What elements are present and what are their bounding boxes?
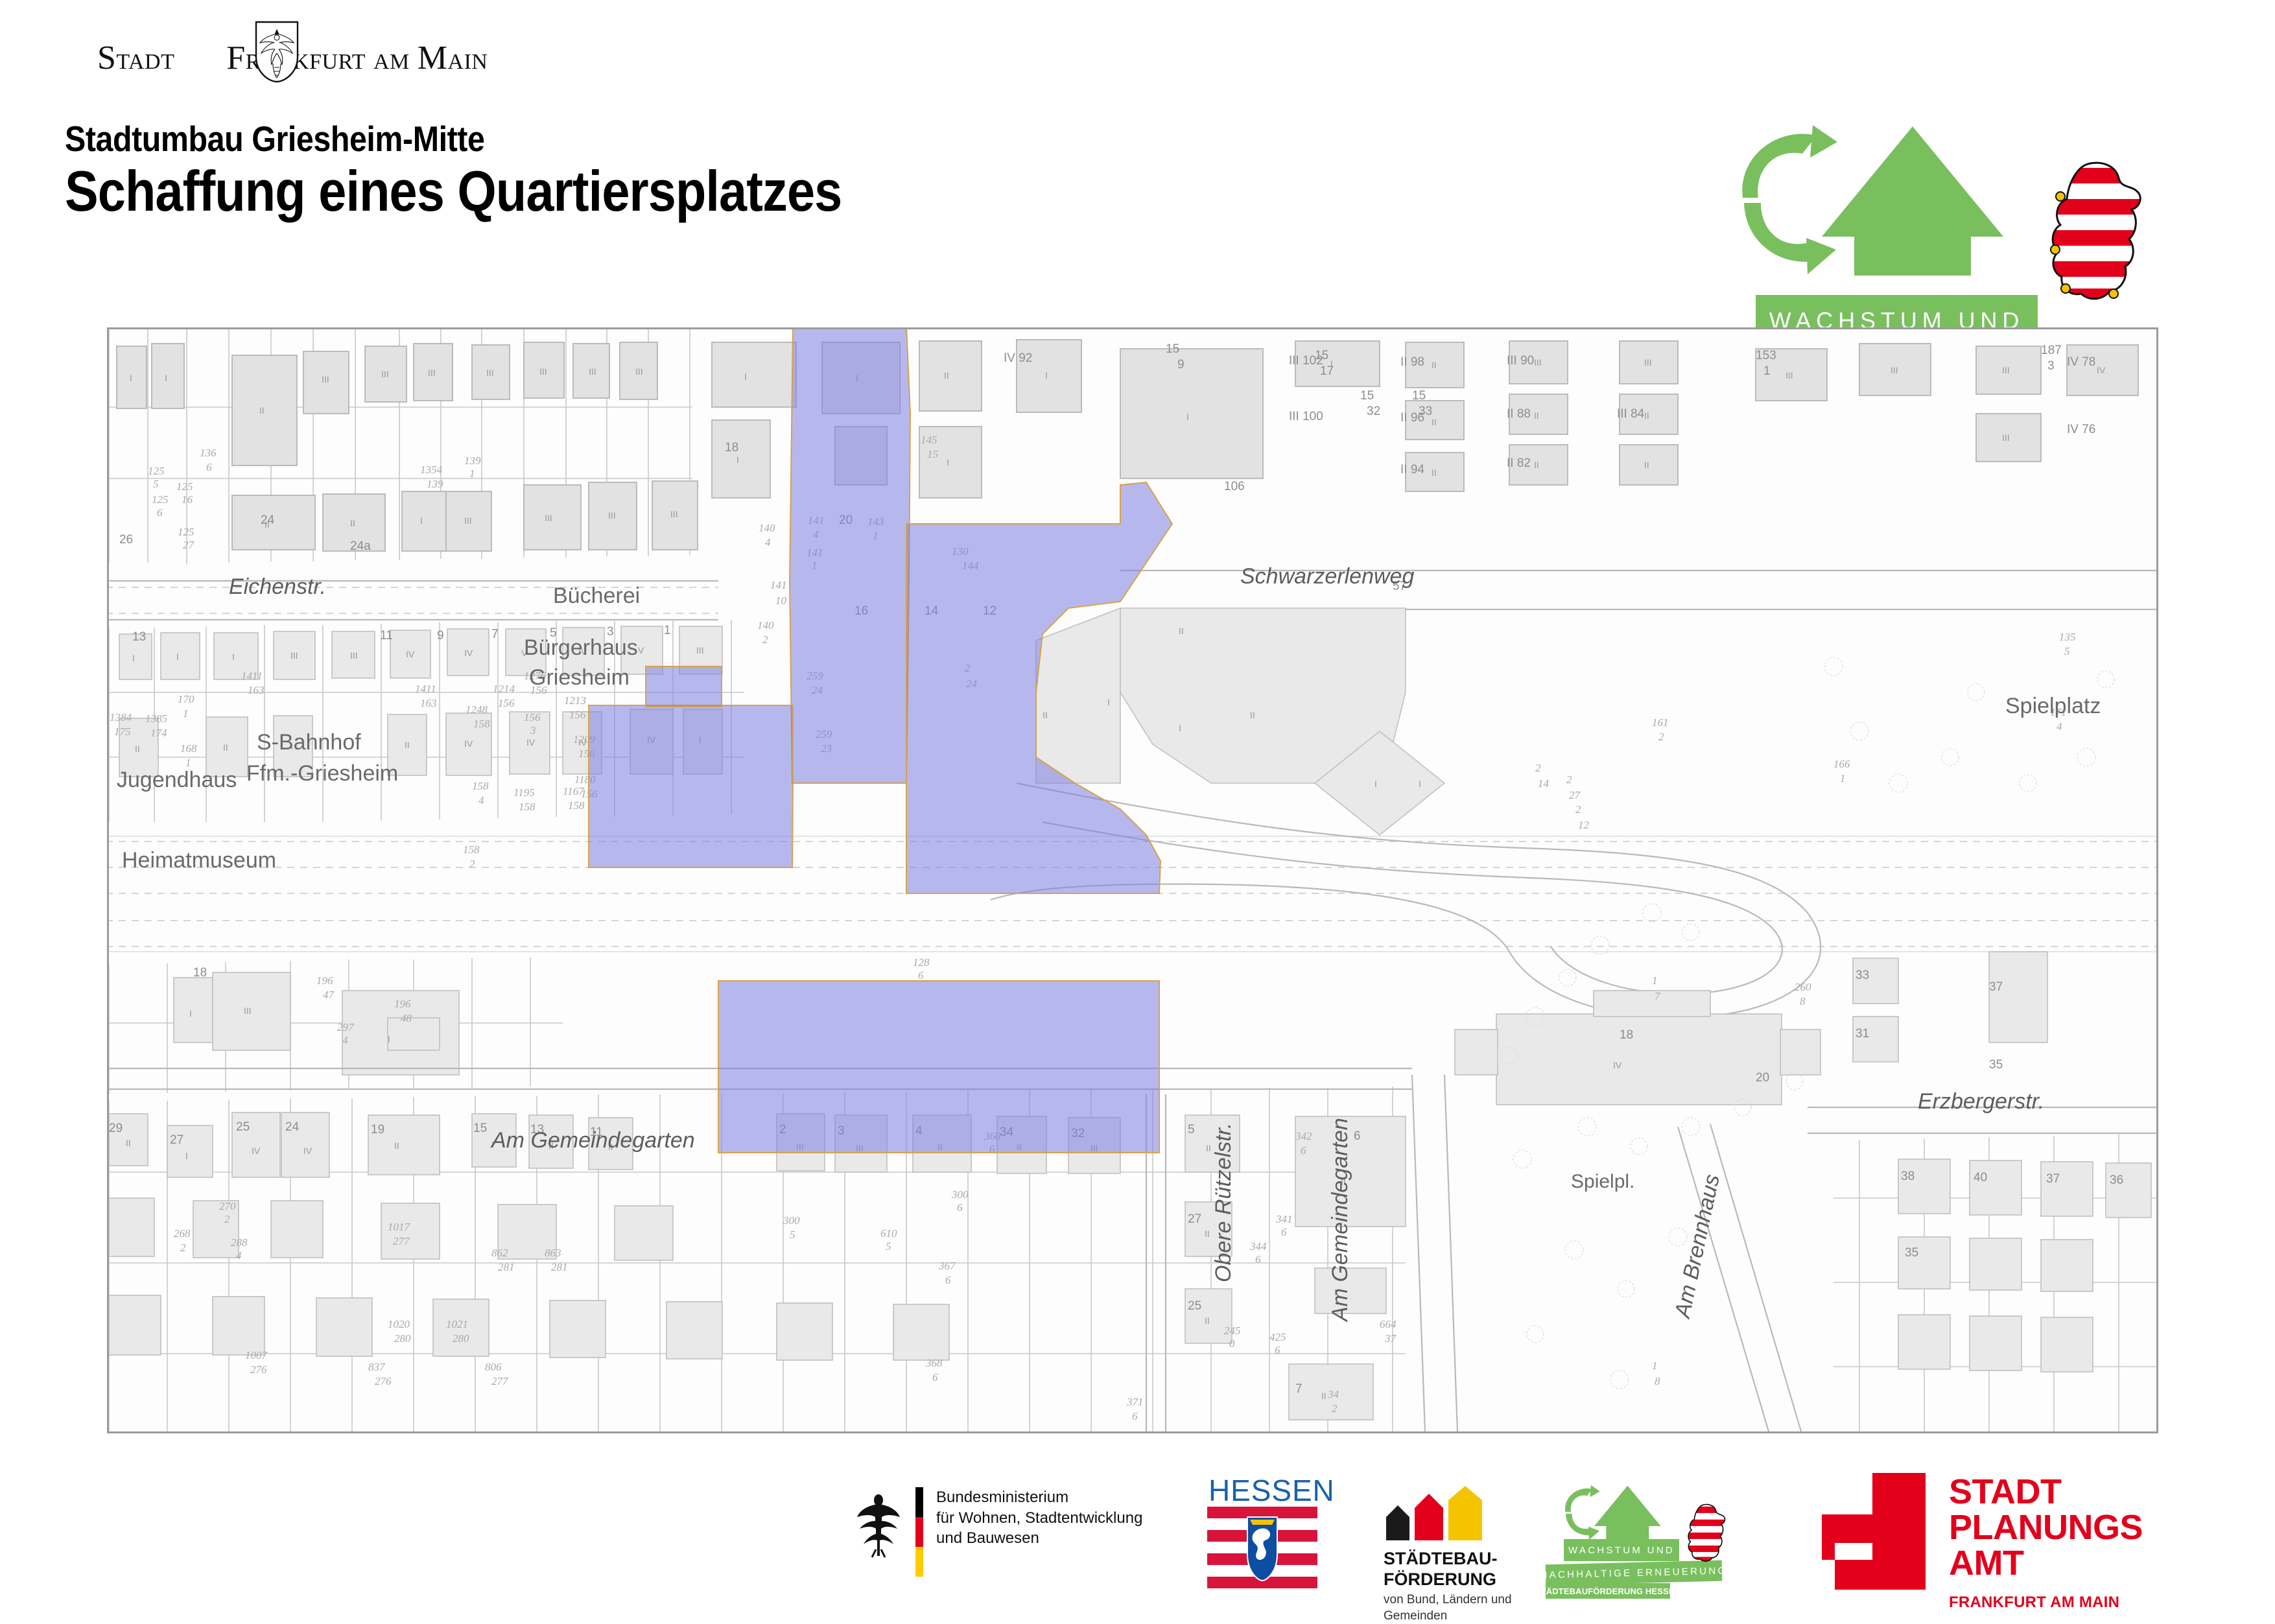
svg-text:19: 19 (371, 1123, 384, 1136)
svg-text:II: II (1250, 710, 1255, 720)
svg-text:III: III (635, 366, 643, 377)
svg-text:IV 78: IV 78 (2067, 355, 2095, 369)
federal-eagle-icon (856, 1489, 901, 1560)
svg-text:2: 2 (1566, 773, 1572, 786)
svg-text:I: I (388, 1034, 390, 1044)
svg-text:139: 139 (464, 454, 481, 467)
svg-text:III: III (290, 650, 298, 661)
svg-text:1: 1 (1763, 364, 1771, 378)
svg-text:136: 136 (200, 447, 217, 459)
recycle-arrow-house-icon (1699, 120, 2062, 314)
svg-text:47: 47 (323, 989, 335, 1001)
svg-text:II: II (944, 370, 949, 381)
svg-text:367: 367 (938, 1260, 956, 1272)
svg-text:2: 2 (762, 633, 768, 646)
stadtplanungsamt-mark-icon (1822, 1473, 1926, 1590)
svg-text:4: 4 (765, 536, 771, 548)
svg-text:341: 341 (1275, 1213, 1293, 1225)
page-subtitle: Stadtumbau Griesheim-Mitte (65, 118, 484, 159)
svg-text:18: 18 (193, 966, 207, 980)
svg-text:20: 20 (1756, 1071, 1769, 1085)
svg-text:I: I (185, 1151, 188, 1161)
svg-text:1384: 1384 (110, 711, 132, 724)
bmwsb-line3: und Bauwesen (936, 1528, 1142, 1549)
svg-text:35: 35 (1905, 1246, 1918, 1260)
svg-text:II: II (1534, 460, 1539, 470)
svg-text:276: 276 (375, 1375, 392, 1387)
svg-text:48: 48 (401, 1012, 412, 1024)
svg-text:2: 2 (469, 858, 475, 870)
hessen-wordmark: HESSEN (1208, 1473, 1335, 1508)
svg-text:158: 158 (473, 718, 490, 730)
svg-text:IV: IV (2097, 365, 2106, 375)
svg-text:III 84: III 84 (1617, 407, 1645, 421)
svg-text:280: 280 (394, 1332, 411, 1345)
svg-text:II: II (1043, 710, 1048, 720)
svg-text:15: 15 (1166, 342, 1179, 356)
svg-text:125: 125 (148, 465, 165, 477)
svg-text:135: 135 (2059, 631, 2076, 643)
svg-text:III: III (486, 368, 494, 378)
svg-text:6: 6 (945, 1274, 951, 1286)
svg-text:31: 31 (1856, 1027, 1869, 1041)
hessian-lion-icon-small (1683, 1503, 1730, 1565)
footer-program-line3: STÄDTEBAUFÖRDERUNG HESSEN (1546, 1583, 1670, 1599)
svg-text:III: III (244, 1006, 252, 1016)
svg-text:III: III (539, 366, 547, 377)
svg-text:III 90: III 90 (1507, 354, 1534, 368)
svg-text:II: II (1341, 1177, 1346, 1187)
svg-text:II: II (1432, 467, 1437, 478)
svg-text:270: 270 (219, 1200, 236, 1212)
svg-text:171: 171 (2050, 706, 2067, 718)
svg-text:4: 4 (478, 794, 484, 806)
german-flag-red-bar (915, 1517, 923, 1547)
staedtebau-sub1: von Bund, Ländern und (1384, 1592, 1512, 1608)
stadtplanungsamt-logo: STADT PLANUNGS AMT FRANKFURT AM MAIN (1822, 1473, 2146, 1590)
wachstum-nachhaltige-erneuerung-footer-logo: WACHSTUM UND NACHHALTIGE ERNEUERUNG STÄD… (1544, 1483, 1752, 1587)
svg-text:863: 863 (545, 1247, 561, 1259)
frankfurt-eagle-crest-icon (255, 21, 299, 83)
svg-text:128: 128 (913, 956, 930, 969)
svg-text:II 88: II 88 (1507, 407, 1531, 421)
svg-text:125: 125 (176, 480, 193, 493)
svg-text:156: 156 (569, 709, 586, 721)
svg-text:I: I (1107, 697, 1110, 707)
svg-text:III: III (350, 650, 358, 661)
svg-text:6: 6 (206, 461, 212, 473)
svg-text:11: 11 (380, 629, 393, 642)
svg-text:6: 6 (1255, 1253, 1261, 1265)
svg-text:2: 2 (180, 1242, 186, 1254)
svg-text:I: I (1334, 1287, 1337, 1297)
svg-text:9: 9 (1177, 358, 1185, 371)
svg-text:I: I (1419, 779, 1421, 789)
svg-text:IV: IV (526, 737, 536, 747)
svg-text:1: 1 (1652, 974, 1658, 987)
cadastral-map[interactable]: .plot{fill:none;stroke:#c9c9c9;stroke-wi… (107, 327, 2158, 1433)
svg-text:II: II (126, 1138, 131, 1148)
hessian-lion-icon (2041, 159, 2151, 308)
svg-text:281: 281 (551, 1261, 568, 1273)
svg-text:III: III (2002, 365, 2010, 375)
svg-text:I: I (189, 1008, 192, 1018)
svg-text:1276: 1276 (524, 670, 547, 682)
svg-text:I: I (491, 1139, 494, 1149)
svg-text:156: 156 (498, 697, 515, 709)
svg-text:5: 5 (790, 1229, 796, 1241)
svg-text:II: II (1644, 410, 1649, 421)
svg-text:664: 664 (1380, 1318, 1397, 1330)
svg-text:140: 140 (757, 619, 774, 631)
svg-text:24a: 24a (350, 539, 371, 553)
svg-text:837: 837 (368, 1361, 386, 1373)
svg-text:II: II (1644, 460, 1649, 470)
svg-text:1385: 1385 (145, 712, 167, 725)
svg-text:25: 25 (1188, 1299, 1201, 1313)
svg-text:158: 158 (519, 801, 536, 813)
svg-text:25: 25 (236, 1120, 250, 1134)
svg-text:6: 6 (957, 1201, 963, 1214)
svg-text:IV 92: IV 92 (1004, 351, 1032, 365)
svg-text:6: 6 (1354, 1129, 1361, 1143)
svg-text:II: II (1205, 1229, 1210, 1239)
svg-text:1: 1 (469, 467, 475, 480)
svg-text:18: 18 (725, 441, 738, 454)
svg-text:5: 5 (886, 1240, 891, 1253)
svg-text:II 98: II 98 (1400, 355, 1424, 369)
svg-text:II: II (135, 744, 140, 754)
svg-text:24: 24 (285, 1120, 300, 1134)
svg-text:IV: IV (464, 648, 473, 658)
svg-text:5: 5 (2064, 645, 2070, 657)
svg-text:24: 24 (261, 513, 275, 527)
svg-text:13: 13 (132, 630, 146, 644)
svg-text:I: I (1045, 370, 1048, 381)
svg-text:II 82: II 82 (1507, 456, 1531, 470)
svg-text:I: I (290, 741, 293, 751)
svg-text:27: 27 (1188, 1212, 1201, 1226)
spa-sub: FRANKFURT AM MAIN (1949, 1594, 2119, 1612)
svg-text:163: 163 (248, 684, 265, 696)
svg-text:260: 260 (1795, 981, 1811, 993)
svg-text:II: II (608, 1142, 613, 1152)
svg-text:106: 106 (1224, 480, 1245, 493)
svg-text:3: 3 (607, 625, 614, 639)
svg-text:2: 2 (1332, 1402, 1338, 1415)
svg-text:II: II (350, 518, 355, 528)
svg-text:1007: 1007 (245, 1349, 268, 1361)
german-flag-gold-bar (915, 1547, 923, 1577)
svg-text:141: 141 (770, 579, 787, 591)
svg-text:III: III (1644, 357, 1652, 368)
svg-text:III: III (1891, 365, 1898, 375)
svg-text:11: 11 (590, 1125, 603, 1139)
svg-text:1017: 1017 (388, 1221, 411, 1233)
svg-text:II: II (259, 405, 265, 416)
svg-text:1: 1 (183, 707, 189, 720)
svg-text:I: I (420, 515, 423, 526)
svg-text:IV 76: IV 76 (2067, 423, 2095, 436)
svg-text:158: 158 (472, 780, 489, 792)
svg-text:16: 16 (182, 493, 193, 506)
svg-text:34: 34 (1327, 1388, 1339, 1400)
svg-text:156: 156 (530, 684, 547, 696)
svg-text:35: 35 (1989, 1058, 2003, 1072)
svg-text:III: III (381, 369, 389, 379)
svg-text:15: 15 (927, 448, 938, 460)
staedtebau-line1: STÄDTEBAU- (1384, 1548, 1498, 1569)
svg-text:I: I (744, 371, 747, 382)
svg-text:II: II (1432, 417, 1437, 427)
svg-text:276: 276 (250, 1363, 267, 1376)
svg-text:1214: 1214 (493, 683, 515, 695)
footer-program-line1: WACHSTUM UND (1564, 1539, 1679, 1561)
svg-text:7: 7 (491, 628, 499, 641)
svg-text:344: 344 (1249, 1240, 1267, 1253)
svg-text:37: 37 (2046, 1172, 2060, 1186)
svg-text:125: 125 (152, 493, 169, 506)
svg-text:II: II (1179, 626, 1184, 636)
svg-text:277: 277 (491, 1375, 509, 1387)
staedtebau-sub2: Gemeinden (1384, 1608, 1512, 1624)
svg-text:IV: IV (1613, 1060, 1622, 1070)
three-houses-icon (1384, 1486, 1507, 1540)
svg-text:38: 38 (1901, 1170, 1915, 1183)
svg-text:II: II (1205, 1315, 1210, 1326)
city-of-frankfurt-logo: STADTFRANKFURT AM MAIN (97, 31, 512, 78)
svg-text:II: II (1321, 1391, 1326, 1401)
svg-text:I: I (947, 457, 949, 467)
bmwsb-line1: Bundesministerium (936, 1487, 1142, 1508)
svg-text:4: 4 (342, 1034, 348, 1046)
svg-text:1354: 1354 (420, 464, 443, 476)
svg-text:I: I (1179, 723, 1181, 733)
page-title: Schaffung eines Quartiersplatzes (65, 158, 842, 224)
svg-text:V: V (638, 645, 644, 655)
svg-text:II: II (1206, 1143, 1211, 1153)
svg-text:166: 166 (1833, 758, 1850, 770)
svg-text:371: 371 (1126, 1396, 1144, 1408)
svg-text:6: 6 (1281, 1226, 1287, 1238)
svg-text:6: 6 (918, 969, 924, 982)
svg-text:IV: IV (578, 646, 587, 657)
staedtebau-line2: FÖRDERUNG (1384, 1569, 1498, 1590)
svg-text:4: 4 (2057, 720, 2062, 733)
svg-text:II 94: II 94 (1400, 463, 1424, 477)
svg-text:158: 158 (463, 843, 480, 856)
spa-line1: STADT (1949, 1474, 2143, 1510)
svg-text:2: 2 (1658, 731, 1664, 743)
svg-text:IV: IV (252, 1146, 261, 1156)
spa-line2: PLANUNGS (1949, 1510, 2143, 1546)
svg-text:I: I (176, 652, 179, 662)
svg-text:6: 6 (1301, 1144, 1306, 1157)
svg-text:281: 281 (498, 1261, 515, 1273)
svg-text:187: 187 (2041, 344, 2062, 357)
svg-text:806: 806 (485, 1361, 502, 1373)
svg-text:III: III (464, 515, 472, 526)
svg-text:1411: 1411 (415, 683, 436, 695)
svg-text:III: III (1786, 370, 1793, 381)
svg-text:I: I (165, 373, 167, 383)
svg-text:6: 6 (157, 506, 163, 519)
svg-text:1: 1 (664, 624, 671, 637)
svg-text:610: 610 (880, 1227, 897, 1240)
svg-text:170: 170 (178, 693, 194, 705)
svg-text:300: 300 (951, 1188, 969, 1201)
svg-text:III: III (670, 509, 678, 519)
svg-text:I: I (130, 373, 132, 383)
svg-text:II: II (405, 740, 410, 750)
svg-text:268: 268 (174, 1227, 191, 1240)
svg-text:40: 40 (1974, 1171, 1987, 1184)
svg-text:4: 4 (236, 1249, 242, 1262)
svg-text:13: 13 (530, 1123, 544, 1136)
svg-text:12: 12 (1578, 819, 1590, 831)
svg-text:163: 163 (420, 697, 437, 709)
svg-text:153: 153 (1756, 349, 1776, 362)
svg-text:368: 368 (925, 1357, 943, 1369)
svg-text:1021: 1021 (446, 1318, 468, 1330)
svg-text:0: 0 (1229, 1337, 1235, 1350)
svg-text:32: 32 (1367, 405, 1380, 418)
spa-line3: AMT (1949, 1546, 2143, 1581)
svg-text:15: 15 (1412, 389, 1426, 403)
svg-text:6: 6 (932, 1371, 938, 1383)
svg-text:37: 37 (1384, 1332, 1397, 1345)
svg-text:196: 196 (394, 998, 411, 1010)
svg-text:27: 27 (1569, 789, 1581, 801)
svg-text:II: II (394, 1140, 399, 1151)
svg-text:I: I (1186, 412, 1189, 422)
svg-text:III: III (696, 645, 704, 655)
svg-text:5: 5 (550, 626, 557, 640)
svg-text:5: 5 (153, 478, 159, 490)
svg-text:300: 300 (783, 1214, 800, 1227)
svg-text:245: 245 (1224, 1324, 1241, 1337)
svg-text:175: 175 (114, 725, 131, 738)
svg-text:140: 140 (759, 522, 775, 534)
svg-text:29: 29 (109, 1122, 123, 1135)
svg-text:1248: 1248 (466, 703, 488, 716)
bmwsb-logo: Bundesministerium für Wohnen, Stadtentwi… (856, 1483, 1161, 1574)
svg-text:1: 1 (1652, 1359, 1658, 1372)
svg-text:8: 8 (1655, 1375, 1660, 1387)
svg-text:26: 26 (119, 533, 133, 547)
svg-text:II: II (1534, 410, 1539, 421)
svg-text:8: 8 (1800, 995, 1806, 1007)
svg-text:II: II (1432, 360, 1437, 370)
svg-text:158: 158 (568, 799, 585, 812)
svg-text:297: 297 (337, 1021, 355, 1033)
svg-text:15: 15 (473, 1122, 487, 1135)
svg-text:15: 15 (1360, 389, 1374, 403)
svg-text:125: 125 (178, 526, 194, 538)
svg-text:33: 33 (1856, 969, 1869, 982)
svg-text:156: 156 (524, 711, 541, 724)
svg-text:III: III (589, 366, 596, 377)
hessen-flag-icon (1207, 1507, 1317, 1590)
svg-text:III: III (545, 513, 552, 523)
svg-text:1020: 1020 (388, 1318, 410, 1330)
svg-text:IV: IV (464, 738, 473, 749)
svg-text:280: 280 (453, 1332, 469, 1345)
svg-text:1167: 1167 (563, 785, 585, 797)
svg-text:27: 27 (183, 539, 195, 551)
svg-text:I: I (737, 454, 739, 465)
svg-text:862: 862 (491, 1247, 508, 1259)
svg-text:57: 57 (1393, 580, 1406, 593)
svg-text:III: III (428, 368, 436, 378)
svg-text:II: II (548, 1140, 554, 1151)
svg-text:10: 10 (775, 594, 787, 607)
svg-text:196: 196 (316, 974, 333, 987)
svg-text:36: 36 (2110, 1173, 2123, 1187)
svg-text:2: 2 (1535, 762, 1541, 774)
svg-text:1213: 1213 (564, 694, 586, 707)
svg-text:I: I (1374, 779, 1377, 789)
german-flag-black-bar (915, 1487, 923, 1517)
svg-text:6: 6 (1132, 1410, 1138, 1422)
svg-text:425: 425 (1269, 1331, 1286, 1343)
svg-text:342: 342 (1295, 1130, 1312, 1142)
svg-text:II 96: II 96 (1400, 411, 1424, 425)
svg-text:1: 1 (185, 757, 191, 769)
svg-text:2: 2 (1575, 803, 1581, 816)
svg-text:3: 3 (530, 724, 536, 736)
svg-text:II: II (223, 742, 228, 753)
svg-text:37: 37 (1989, 980, 2003, 994)
svg-text:18: 18 (1620, 1028, 1633, 1042)
svg-text:9: 9 (437, 629, 444, 642)
svg-text:161: 161 (1652, 716, 1669, 729)
svg-text:14: 14 (1538, 777, 1550, 790)
svg-text:III: III (322, 374, 329, 384)
svg-text:7: 7 (1295, 1382, 1303, 1396)
svg-text:IV: IV (303, 1146, 312, 1156)
svg-text:174: 174 (150, 727, 167, 739)
svg-text:277: 277 (393, 1235, 410, 1247)
svg-text:V: V (521, 648, 528, 658)
svg-text:168: 168 (180, 742, 197, 755)
svg-text:2: 2 (224, 1213, 230, 1225)
svg-text:III: III (2002, 432, 2010, 443)
svg-text:I: I (132, 653, 135, 663)
svg-text:139: 139 (427, 478, 443, 490)
svg-text:IV: IV (406, 649, 415, 659)
svg-text:I: I (232, 652, 235, 662)
bmwsb-line2: für Wohnen, Stadtentwicklung (936, 1508, 1142, 1529)
svg-text:1411: 1411 (241, 670, 263, 682)
svg-text:1: 1 (1840, 772, 1846, 784)
svg-text:III 100: III 100 (1289, 410, 1323, 423)
svg-text:6: 6 (1275, 1344, 1280, 1356)
svg-text:1195: 1195 (513, 786, 535, 799)
svg-text:145: 145 (921, 434, 937, 446)
hessen-logo: HESSEN (1207, 1473, 1324, 1590)
svg-text:5: 5 (1188, 1123, 1195, 1136)
map-vector-layer: .plot{fill:none;stroke:#c9c9c9;stroke-wi… (109, 329, 2156, 1431)
svg-text:III: III (608, 510, 616, 521)
svg-text:27: 27 (170, 1133, 183, 1147)
svg-text:3: 3 (2047, 359, 2055, 373)
svg-text:288: 288 (231, 1236, 248, 1249)
svg-text:III: III (1534, 357, 1542, 368)
svg-text:III 102: III 102 (1289, 354, 1323, 368)
